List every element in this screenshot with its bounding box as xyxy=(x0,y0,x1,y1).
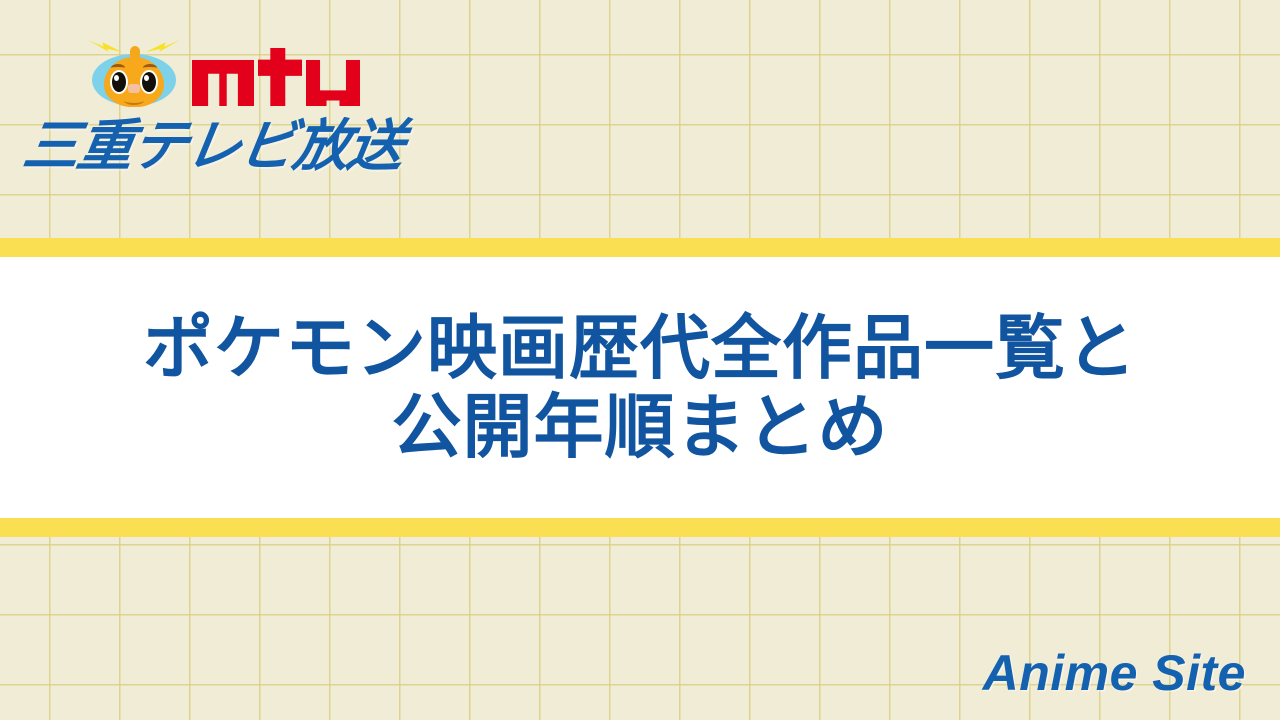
site-label: Anime Site xyxy=(983,644,1246,702)
broadcaster-logo-block: 三重テレビ放送 xyxy=(0,0,1280,238)
bottom-accent-bar xyxy=(0,518,1280,537)
title-panel: ポケモン映画歴代全作品一覧と 公開年順まとめ xyxy=(0,257,1280,518)
thumbnail-canvas: 三重テレビ放送 ポケモン映画歴代全作品一覧と 公開年順まとめ Anime Sit… xyxy=(0,0,1280,720)
antenna-left-icon xyxy=(88,38,122,52)
eye-left-shape xyxy=(110,70,128,94)
nose-shape xyxy=(128,84,140,93)
logo-row xyxy=(86,32,360,112)
page-title-line-2: 公開年順まとめ xyxy=(392,388,889,466)
top-accent-bar xyxy=(0,238,1280,257)
bee-mascot-icon xyxy=(86,32,182,112)
mtv-wordmark xyxy=(192,44,360,112)
mouth-shape xyxy=(124,96,144,105)
page-title-line-1: ポケモン映画歴代全作品一覧と xyxy=(143,309,1137,387)
wordmark-letter-m xyxy=(192,60,254,106)
wordmark-letter-t xyxy=(258,48,302,106)
wordmark-letter-v xyxy=(306,60,360,106)
eye-right-shape xyxy=(140,70,158,94)
antenna-right-icon xyxy=(146,38,180,52)
station-name-text: 三重テレビ放送 xyxy=(20,118,407,174)
